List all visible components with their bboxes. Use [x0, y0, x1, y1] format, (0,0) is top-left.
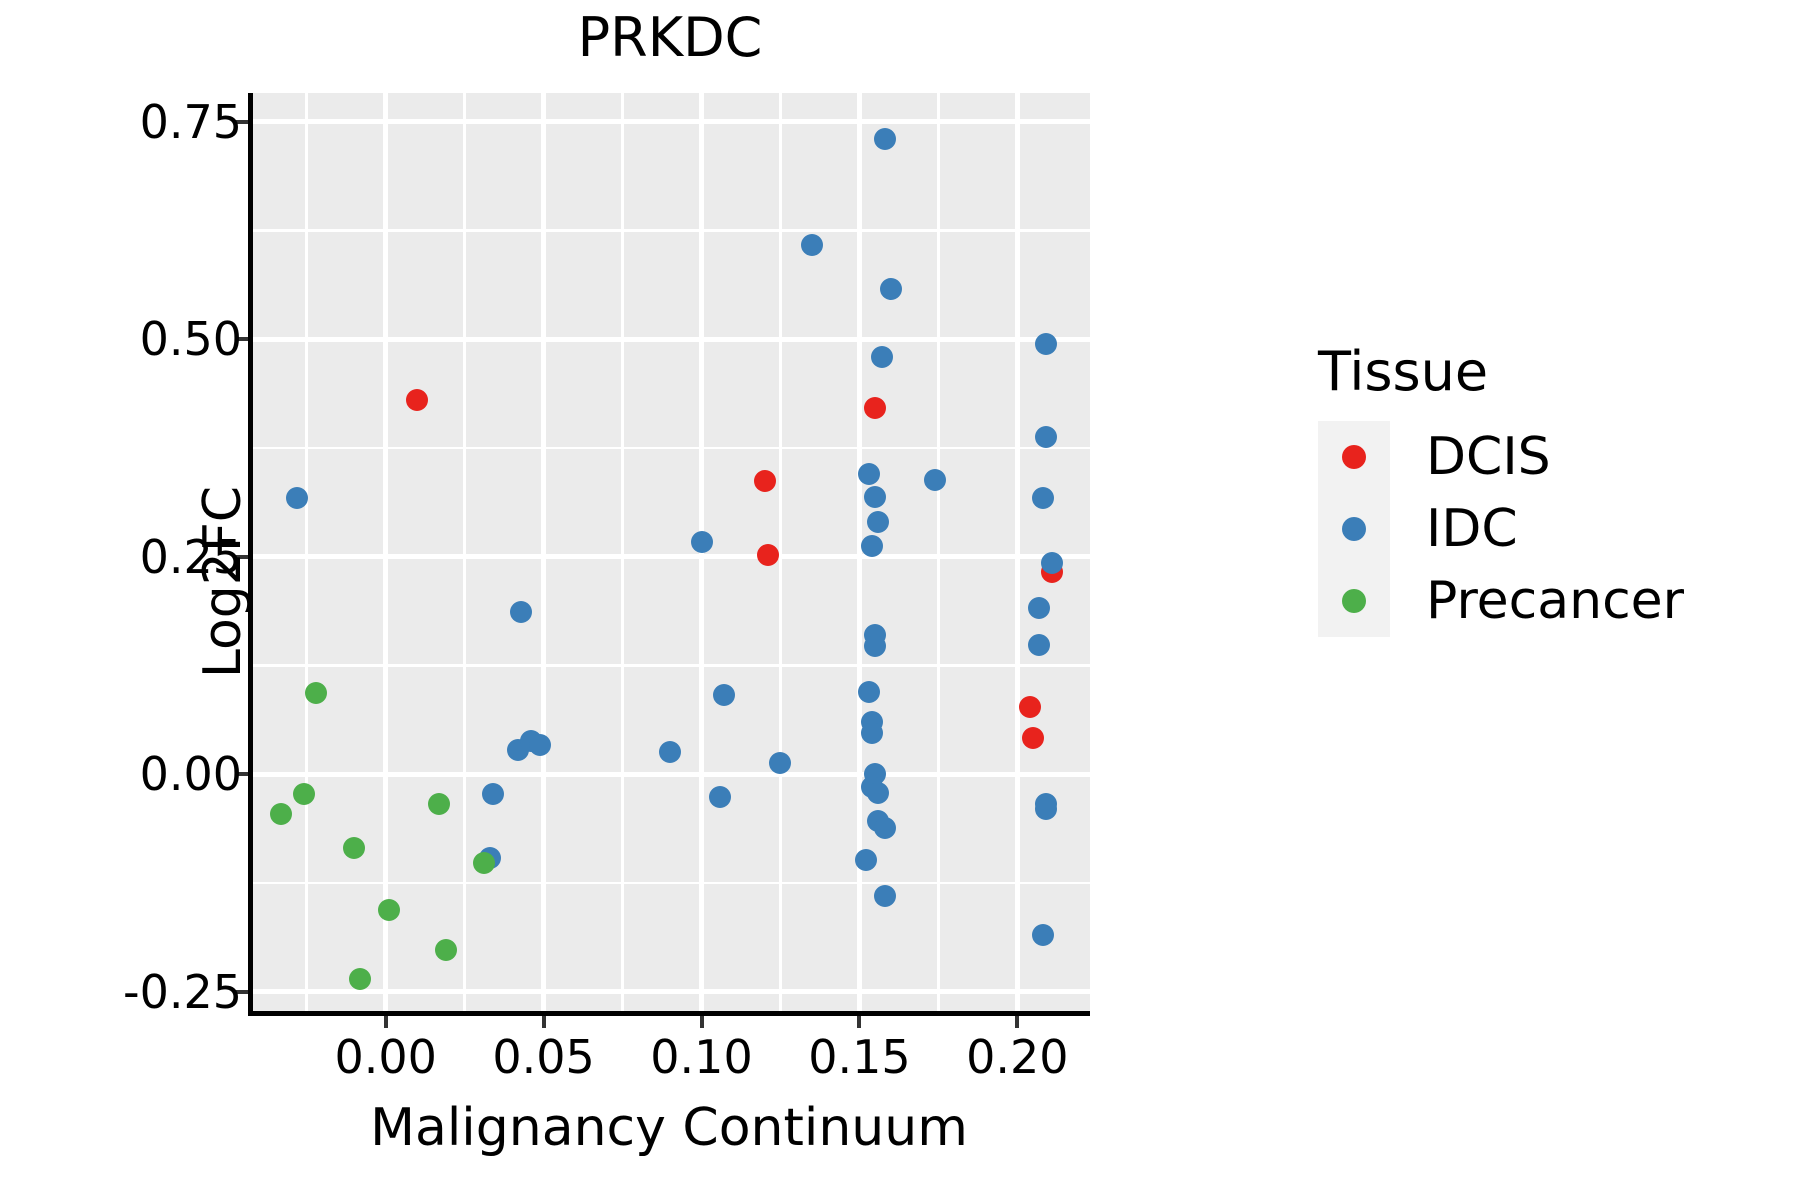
data-point-idc — [769, 752, 791, 774]
data-point-dcis — [1019, 696, 1041, 718]
data-point-idc — [861, 722, 883, 744]
data-point-idc — [529, 734, 551, 756]
gridline — [253, 664, 1090, 667]
gridline — [937, 93, 940, 1011]
data-point-precancer — [305, 682, 327, 704]
data-point-idc — [510, 601, 532, 623]
legend-title: Tissue — [1318, 340, 1788, 403]
gridline — [857, 93, 862, 1011]
x-tick-mark — [542, 1016, 546, 1028]
data-point-idc — [867, 782, 889, 804]
data-point-dcis — [864, 397, 886, 419]
gridline — [383, 93, 388, 1011]
gridline — [253, 447, 1090, 450]
gridline — [253, 989, 1090, 994]
data-point-precancer — [293, 783, 315, 805]
data-point-idc — [874, 128, 896, 150]
gridline — [541, 93, 546, 1011]
gridline — [253, 119, 1090, 124]
data-point-idc — [874, 817, 896, 839]
x-tick-mark — [700, 1016, 704, 1028]
data-point-idc — [880, 278, 902, 300]
data-point-idc — [864, 635, 886, 657]
data-point-idc — [1028, 634, 1050, 656]
data-point-precancer — [473, 852, 495, 874]
x-tick-mark — [1015, 1016, 1019, 1028]
data-point-idc — [659, 741, 681, 763]
legend-item-dcis[interactable]: DCIS — [1318, 421, 1788, 493]
data-point-precancer — [435, 939, 457, 961]
data-point-precancer — [349, 968, 371, 990]
x-tick-label: 0.15 — [808, 1030, 910, 1084]
x-axis-line — [248, 1011, 1090, 1016]
legend: Tissue DCISIDCPrecancer — [1318, 340, 1788, 637]
data-point-precancer — [378, 899, 400, 921]
data-point-idc — [861, 535, 883, 557]
data-point-idc — [858, 681, 880, 703]
legend-key-swatch — [1318, 493, 1390, 565]
data-point-idc — [709, 786, 731, 808]
data-point-idc — [713, 684, 735, 706]
x-tick-label: 0.05 — [492, 1030, 594, 1084]
data-point-idc — [1035, 798, 1057, 820]
legend-key-swatch — [1318, 565, 1390, 637]
data-point-idc — [286, 487, 308, 509]
gridline — [1015, 93, 1020, 1011]
data-point-idc — [867, 511, 889, 533]
data-point-idc — [871, 346, 893, 368]
gridline — [253, 772, 1090, 777]
gridline — [253, 337, 1090, 342]
data-point-idc — [1028, 597, 1050, 619]
page-title: PRKDC — [250, 8, 1090, 67]
data-point-idc — [874, 885, 896, 907]
data-point-dcis — [754, 470, 776, 492]
data-point-precancer — [343, 837, 365, 859]
x-axis-title: Malignancy Continuum — [248, 1098, 1090, 1158]
legend-item-precancer[interactable]: Precancer — [1318, 565, 1788, 637]
legend-dot-icon — [1342, 589, 1366, 613]
data-point-dcis — [757, 544, 779, 566]
data-point-idc — [1032, 487, 1054, 509]
gridline — [253, 229, 1090, 232]
gridline — [621, 93, 624, 1011]
data-point-idc — [1035, 426, 1057, 448]
gridline — [779, 93, 782, 1011]
chart-root: PRKDC -0.250.000.250.500.75 0.000.050.10… — [0, 0, 1800, 1200]
data-point-dcis — [406, 389, 428, 411]
legend-item-label: Precancer — [1426, 575, 1684, 627]
data-point-idc — [1041, 552, 1063, 574]
data-point-idc — [1035, 333, 1057, 355]
legend-item-idc[interactable]: IDC — [1318, 493, 1788, 565]
data-point-idc — [482, 783, 504, 805]
legend-item-label: IDC — [1426, 503, 1518, 555]
data-point-precancer — [270, 803, 292, 825]
x-tick-mark — [384, 1016, 388, 1028]
data-point-precancer — [428, 793, 450, 815]
legend-dot-icon — [1342, 445, 1366, 469]
legend-dot-icon — [1342, 517, 1366, 541]
x-tick-label: 0.00 — [334, 1030, 436, 1084]
gridline — [253, 554, 1090, 559]
data-point-idc — [691, 531, 713, 553]
x-tick-label: 0.20 — [966, 1030, 1068, 1084]
data-point-idc — [858, 463, 880, 485]
legend-key-swatch — [1318, 421, 1390, 493]
gridline — [305, 93, 308, 1011]
legend-items: DCISIDCPrecancer — [1318, 421, 1788, 637]
legend-item-label: DCIS — [1426, 431, 1551, 483]
data-point-idc — [864, 486, 886, 508]
data-point-idc — [1032, 924, 1054, 946]
data-point-idc — [855, 849, 877, 871]
data-point-idc — [924, 469, 946, 491]
gridline — [253, 882, 1090, 885]
gridline — [463, 93, 466, 1011]
x-tick-label: 0.10 — [650, 1030, 752, 1084]
plot-panel — [253, 93, 1090, 1011]
data-point-dcis — [1022, 727, 1044, 749]
x-tick-mark — [857, 1016, 861, 1028]
y-axis-title: Log2FC — [193, 123, 253, 1041]
data-point-idc — [801, 234, 823, 256]
